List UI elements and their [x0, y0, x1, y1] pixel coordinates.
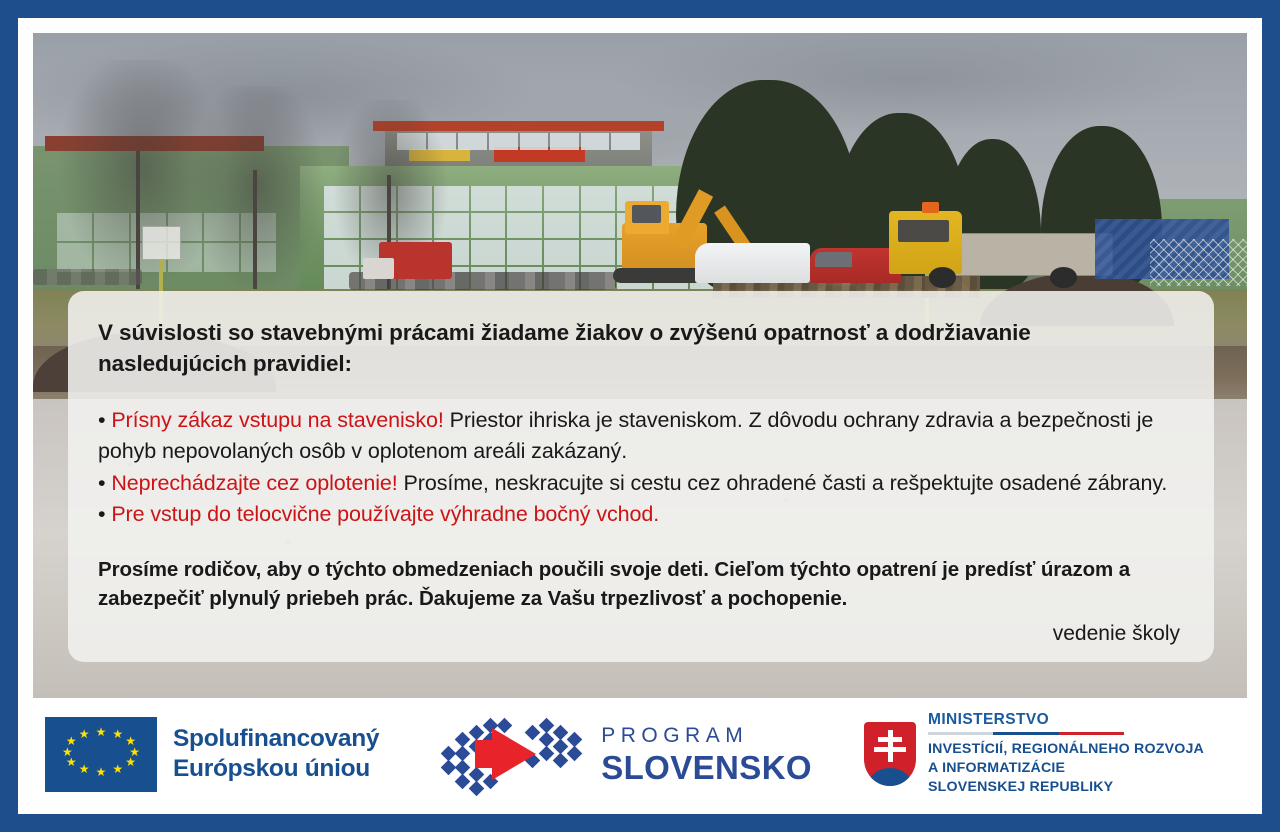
ministerstvo-text: MINISTERSTVO INVESTÍCIÍ, REGIONÁLNEHO RO…	[928, 711, 1204, 796]
rule-bullet: •	[98, 471, 105, 495]
notice-card: V súvislosti so stavebnými prácami žiada…	[68, 291, 1214, 662]
slovak-coat-of-arms-icon	[864, 722, 916, 786]
rule-highlight: Neprechádzajte cez oplotenie!	[111, 471, 397, 495]
red-van	[810, 248, 901, 283]
eu-logo-line1: Spolufinancovaný	[173, 724, 379, 754]
birch-tree-2	[179, 86, 337, 305]
dump-truck-cab	[889, 211, 962, 274]
rule-bullet: •	[98, 408, 105, 432]
rule-bullet: •	[98, 502, 105, 526]
eu-logo: ★ ★ ★ ★ ★ ★ ★ ★ ★ ★ ★ ★ Spolufinancovaný…	[45, 717, 379, 792]
truck-beacon-light-icon	[922, 202, 939, 213]
rule-highlight: Prísny zákaz vstupu na stavenisko!	[111, 408, 443, 432]
rule-item-1: • Prísny zákaz vstupu na stavenisko! Pri…	[98, 405, 1184, 468]
poster-root: V súvislosti so stavebnými prácami žiada…	[0, 0, 1280, 832]
eu-flag-icon: ★ ★ ★ ★ ★ ★ ★ ★ ★ ★ ★ ★	[45, 717, 157, 792]
dump-truck-bed	[950, 233, 1114, 276]
notice-heading: V súvislosti so stavebnými prácami žiada…	[98, 317, 1184, 379]
eu-logo-text: Spolufinancovaný Európskou úniou	[173, 724, 379, 784]
ministerstvo-sub1: INVESTÍCIÍ, REGIONÁLNEHO ROZVOJA	[928, 740, 1204, 759]
rules-list: • Prísny zákaz vstupu na stavenisko! Pri…	[98, 405, 1184, 531]
ministerstvo-tricolor-rule	[928, 732, 1124, 735]
excavator-cab	[625, 201, 669, 234]
program-slovensko-line1: PROGRAM	[601, 725, 812, 746]
notice-closing: Prosíme rodičov, aby o týchto obmedzenia…	[98, 555, 1184, 614]
white-van	[695, 243, 810, 283]
basketball-backboard-left	[142, 226, 181, 261]
truck-wheel-rear	[1050, 267, 1077, 288]
program-slovensko-line2: SLOVENSKO	[601, 751, 812, 784]
ministerstvo-title: MINISTERSTVO	[928, 711, 1204, 729]
program-slovensko-text: PROGRAM SLOVENSKO	[601, 725, 812, 784]
mesh-site-fence	[1150, 239, 1247, 286]
truck-wheel-front	[929, 267, 956, 288]
ministerstvo-logo: MINISTERSTVO INVESTÍCIÍ, REGIONÁLNEHO RO…	[864, 711, 1204, 796]
program-slovensko-mark-icon	[437, 714, 585, 794]
program-slovensko-logo: PROGRAM SLOVENSKO	[437, 714, 812, 794]
eu-logo-line2: Európskou úniou	[173, 754, 379, 784]
skid-steer-loader	[379, 242, 452, 279]
funding-logos-footer: ★ ★ ★ ★ ★ ★ ★ ★ ★ ★ ★ ★ Spolufinancovaný…	[33, 698, 1247, 814]
ministerstvo-sub3: SLOVENSKEJ REPUBLIKY	[928, 778, 1204, 797]
parked-cars-left	[33, 269, 142, 285]
rule-item-2: • Neprechádzajte cez oplotenie! Prosíme,…	[98, 468, 1184, 499]
ministerstvo-sub2: A INFORMATIZÁCIE	[928, 759, 1204, 778]
notice-signature: vedenie školy	[98, 622, 1184, 646]
rule-body: Prosíme, neskracujte si cestu cez ohrade…	[404, 471, 1168, 495]
construction-site-photo: V súvislosti so stavebnými prácami žiada…	[33, 33, 1247, 698]
rule-highlight: Pre vstup do telocvične používajte výhra…	[111, 502, 659, 526]
arrow-icon	[492, 728, 536, 780]
rule-item-3: • Pre vstup do telocvične používajte výh…	[98, 499, 1184, 530]
poster-inner: V súvislosti so stavebnými prácami žiada…	[18, 18, 1262, 814]
